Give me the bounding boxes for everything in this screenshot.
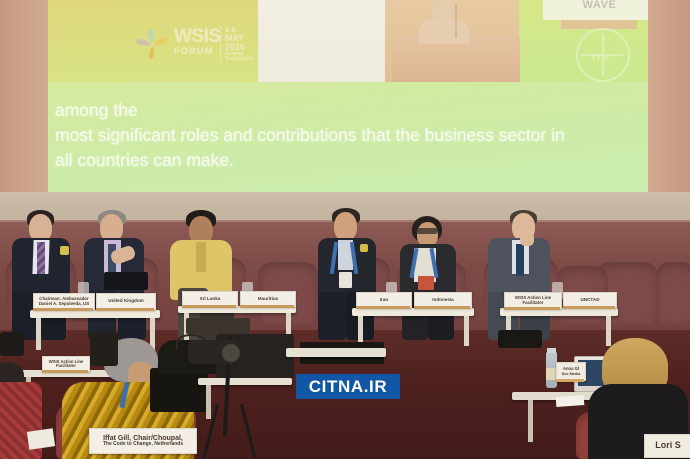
wsis-word-line2: FORUM bbox=[174, 47, 221, 55]
nameplate-iran-line1: Iran bbox=[380, 298, 388, 303]
slide-line-3: all countries can make. bbox=[55, 148, 690, 173]
speaker-head-shape bbox=[432, 0, 454, 26]
wsis-word-line1: WSIS bbox=[174, 28, 221, 46]
wsis-pinwheel-icon bbox=[134, 26, 172, 64]
marilyn-cade-placard-text: Ms Marilyn Cade WAVE bbox=[543, 0, 656, 11]
hand-chin-p6 bbox=[520, 232, 534, 246]
nameplate-anna-base bbox=[556, 379, 584, 382]
nameplate-mauritius-line1: Mauritius bbox=[258, 297, 278, 302]
nameplate-lori-line1: Lori S bbox=[655, 441, 681, 450]
tablet-p2 bbox=[104, 272, 148, 290]
nameplate-wsis-al-line2: Facilitator bbox=[515, 301, 551, 306]
citna-watermark: CITNA.IR bbox=[296, 374, 400, 399]
badge-p4 bbox=[339, 272, 352, 288]
nameplate-iran-base bbox=[356, 306, 410, 309]
equipment-box-3 bbox=[0, 332, 24, 356]
tie-p6 bbox=[516, 244, 524, 276]
nameplate-mauritius-base bbox=[240, 305, 294, 308]
fg-table-center-leg bbox=[206, 385, 211, 419]
nameplate-iffat-line2: The Code to Change, Netherlands bbox=[103, 442, 183, 447]
equipment-shelf bbox=[186, 318, 250, 334]
nameplate-chairman-line2: Daniel A. Sepulveda, US bbox=[39, 302, 89, 307]
equipment-box-2 bbox=[90, 332, 118, 366]
slide-header-photo-left bbox=[258, 0, 385, 82]
conference-photo: Ms Marilyn Cade WAVE ITU WSIS FORUM 2-6 … bbox=[0, 0, 690, 459]
paper-on-desk bbox=[556, 395, 585, 407]
nameplate-unctad-line1: UNCTAD bbox=[580, 298, 599, 303]
fg-table-right-1 bbox=[286, 348, 386, 357]
nameplate-uk-line1: United Kingdom bbox=[108, 299, 143, 304]
nameplate-unctad-base bbox=[563, 306, 615, 309]
screen-surround-left bbox=[0, 0, 48, 205]
wsis-wordmark: WSIS FORUM bbox=[174, 28, 221, 55]
nameplate-sri-lanka-line1: Sri Lanka bbox=[200, 297, 221, 302]
placard-line2: WAVE bbox=[543, 0, 656, 11]
wsis-date-block: 2-6 MAY 2016 Geneva Switzerland bbox=[220, 26, 254, 62]
badge-p5 bbox=[418, 276, 434, 290]
slide-line-1: among the bbox=[55, 98, 690, 123]
slide-body-text: among the most significant roles and con… bbox=[55, 98, 690, 173]
water-bottle-cap bbox=[547, 348, 556, 353]
panel-table-right bbox=[352, 308, 474, 316]
wsis-date-line4: Switzerland bbox=[225, 57, 254, 62]
head-p4 bbox=[334, 212, 357, 241]
nameplate-fg-wsis-base bbox=[42, 370, 88, 373]
nameplate-iffat-gill: Iffat Gill, Chair/Choupal, The Code to C… bbox=[89, 428, 197, 454]
panel-table-right-leg2 bbox=[464, 316, 469, 346]
camera-lens bbox=[222, 344, 240, 362]
lapel-badge-p1 bbox=[60, 246, 69, 255]
panel-table-left-leg1 bbox=[36, 318, 41, 350]
nameplate-chairman-base bbox=[33, 308, 93, 311]
slide-body: among the most significant roles and con… bbox=[48, 82, 650, 192]
wsis-date-line2: MAY 2016 bbox=[225, 34, 254, 52]
wsis-forum-logo: WSIS FORUM 2-6 MAY 2016 Geneva Switzerla… bbox=[134, 22, 254, 68]
lapel-badge-p4 bbox=[360, 244, 368, 252]
panel-table-fr-leg2 bbox=[606, 316, 611, 346]
nameplate-sri-lanka-base bbox=[182, 305, 236, 308]
nameplate-lori: Lori S bbox=[644, 434, 690, 458]
shirt-placket-p3 bbox=[196, 242, 206, 272]
nameplate-indonesia-base bbox=[414, 306, 470, 309]
microphone-stand-shape bbox=[455, 4, 457, 38]
nameplate-anna-line2: Soc Media bbox=[562, 372, 581, 376]
equipment-box-4 bbox=[498, 330, 542, 348]
fg-table-right-2-leg bbox=[528, 400, 533, 442]
screen-surround-right bbox=[648, 0, 690, 205]
empty-chair-3 bbox=[656, 262, 690, 324]
citna-watermark-text: CITNA.IR bbox=[309, 377, 387, 397]
panel-table-left bbox=[30, 310, 160, 318]
nameplate-wsis-al-base bbox=[504, 307, 560, 310]
glasses-p5 bbox=[416, 228, 438, 234]
nameplate-uk-base bbox=[96, 308, 154, 311]
slide-line-2: most significant roles and contributions… bbox=[55, 123, 690, 148]
equipment-case bbox=[150, 368, 208, 412]
tie-p1 bbox=[37, 242, 45, 274]
paper-red-person bbox=[27, 428, 55, 449]
nameplate-fg-wsis-line2: Facilitator bbox=[49, 364, 84, 368]
leg-left-p4 bbox=[318, 292, 346, 340]
nameplate-indonesia-line1: Indonesia bbox=[432, 298, 453, 303]
fg-table-center bbox=[198, 378, 292, 385]
itu-label: ITU bbox=[576, 52, 626, 62]
